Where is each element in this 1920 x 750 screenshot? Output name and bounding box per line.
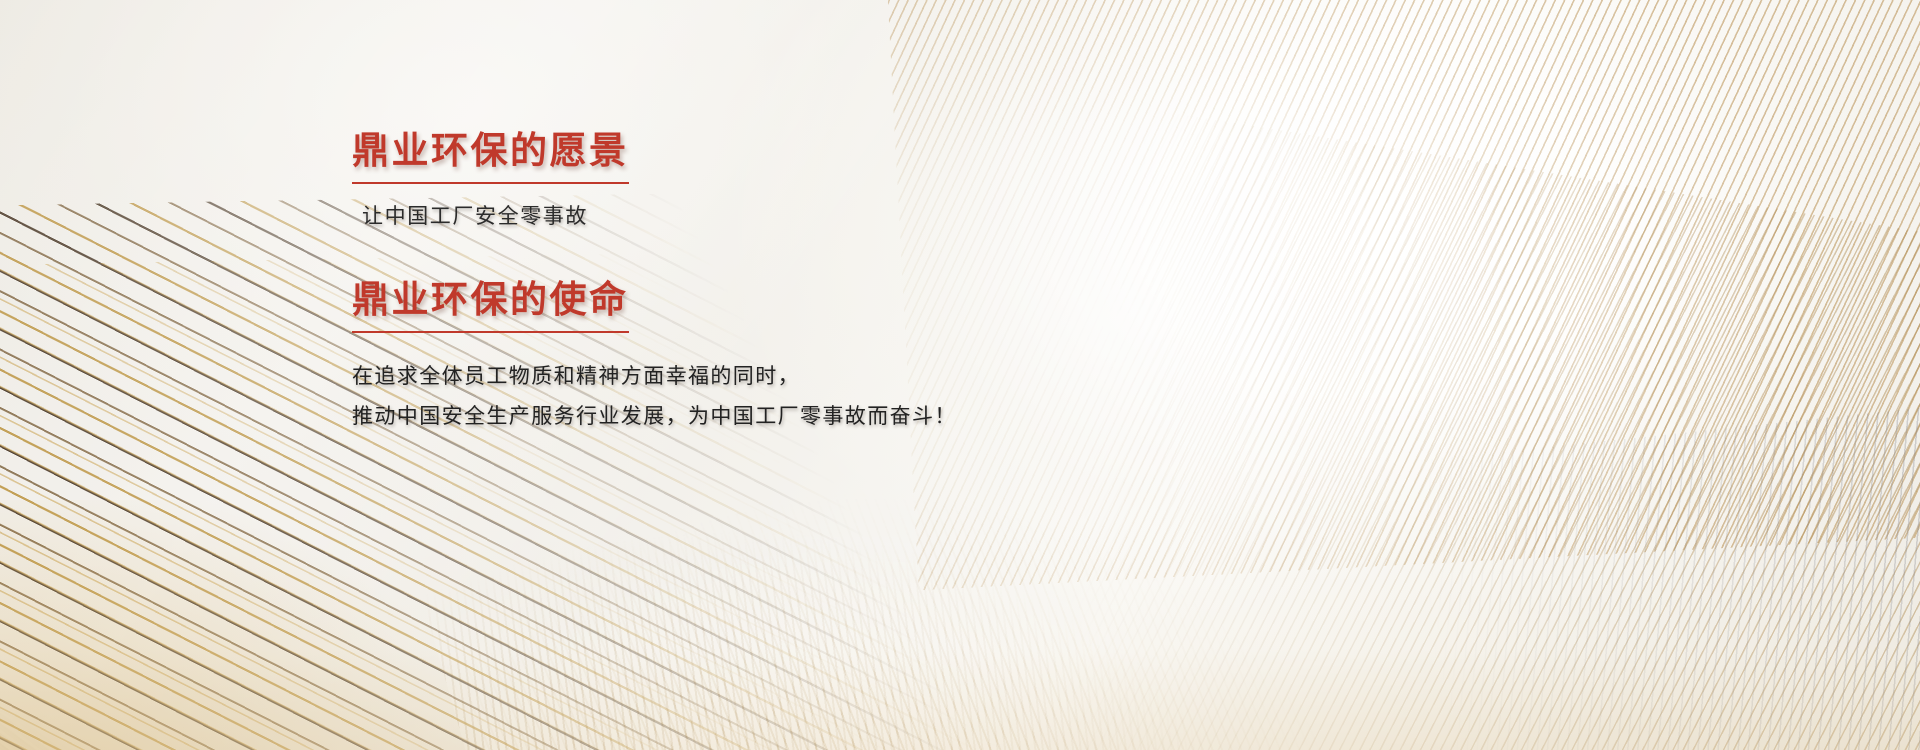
- bottom-sheen-band: [0, 540, 1920, 750]
- vision-block: 鼎业环保的愿景 让中国工厂安全零事故: [352, 128, 1452, 233]
- mission-body-line-1: 在追求全体员工物质和精神方面幸福的同时，: [352, 357, 1452, 397]
- vision-subtitle: 让中国工厂安全零事故: [362, 201, 1452, 233]
- banner-content: 鼎业环保的愿景 让中国工厂安全零事故 鼎业环保的使命 在追求全体员工物质和精神方…: [352, 128, 1452, 437]
- vision-heading: 鼎业环保的愿景: [352, 128, 629, 184]
- mission-block: 鼎业环保的使命 在追求全体员工物质和精神方面幸福的同时， 推动中国安全生产服务行…: [352, 277, 1452, 438]
- mission-heading: 鼎业环保的使命: [352, 277, 629, 333]
- mission-body: 在追求全体员工物质和精神方面幸福的同时， 推动中国安全生产服务行业发展，为中国工…: [352, 357, 1452, 438]
- vision-mission-banner: 鼎业环保的愿景 让中国工厂安全零事故 鼎业环保的使命 在追求全体员工物质和精神方…: [0, 0, 1920, 750]
- mission-body-line-2: 推动中国安全生产服务行业发展，为中国工厂零事故而奋斗！: [352, 397, 1452, 437]
